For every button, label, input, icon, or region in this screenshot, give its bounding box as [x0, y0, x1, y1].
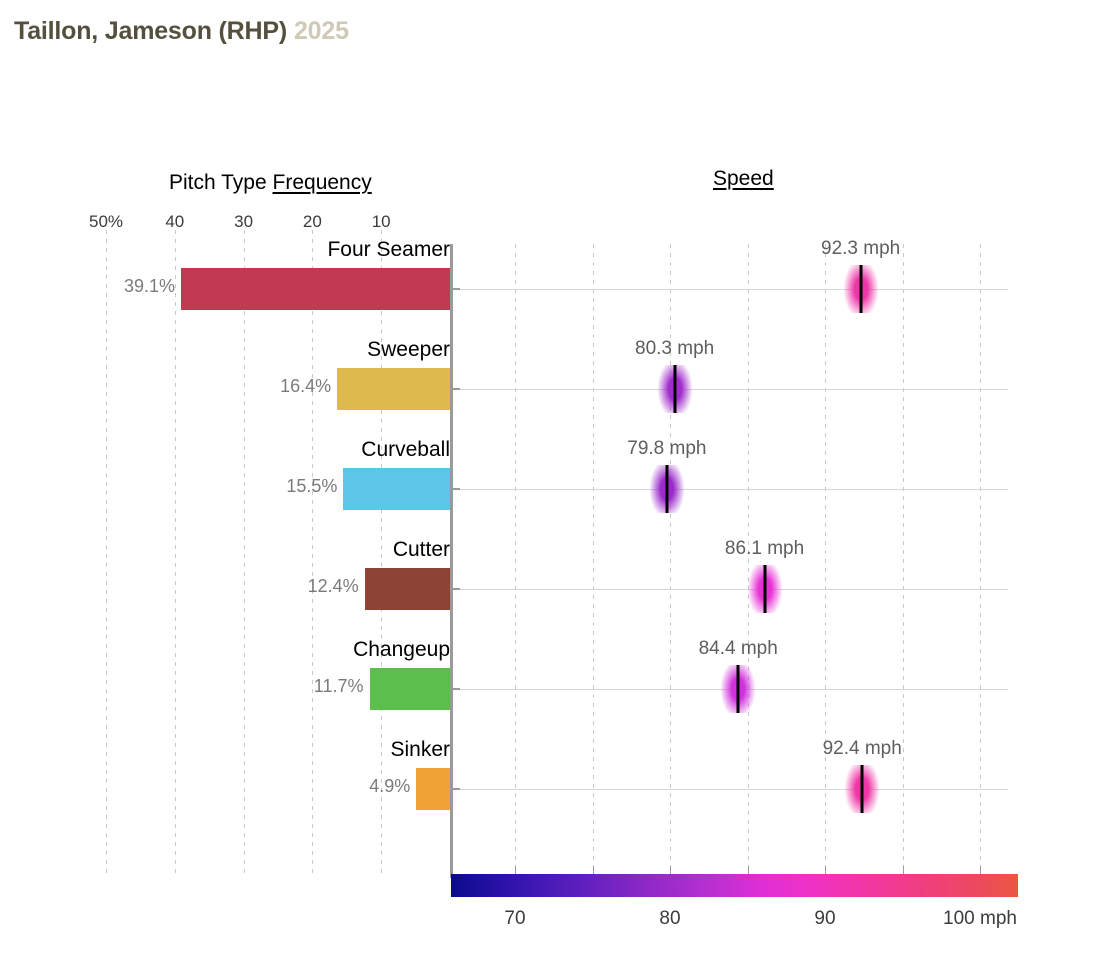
frequency-tick-label: 30 — [234, 212, 253, 232]
frequency-value-label: 4.9% — [369, 776, 416, 797]
row-tick — [450, 388, 460, 390]
colorbar-notch — [670, 866, 671, 874]
frequency-tick-label: 50% — [89, 212, 123, 232]
speed-tick-label: 100 mph — [943, 908, 1017, 930]
frequency-panel-header: Pitch Type Frequency — [169, 171, 372, 195]
frequency-value-label: 39.1% — [124, 276, 181, 297]
colorbar-notch — [593, 866, 594, 874]
speed-value-label: 92.3 mph — [821, 238, 900, 260]
row-baseline — [452, 489, 1008, 490]
row-baseline — [452, 789, 1008, 790]
colorbar-notch — [748, 866, 749, 874]
row-tick — [450, 288, 460, 290]
speed-tick-label: 80 — [659, 908, 680, 930]
colorbar-notch — [515, 866, 516, 874]
row-tick — [450, 488, 460, 490]
frequency-value-label: 12.4% — [308, 576, 365, 597]
frequency-value-label: 15.5% — [286, 476, 343, 497]
frequency-bar[interactable] — [365, 568, 450, 610]
speed-tick-label: 90 — [814, 908, 835, 930]
frequency-value-label: 16.4% — [280, 376, 337, 397]
colorbar-notch — [903, 866, 904, 874]
row-baseline — [452, 589, 1008, 590]
player-name: Taillon, Jameson (RHP) — [14, 17, 287, 45]
speed-median-line — [737, 665, 740, 713]
colorbar-notch — [825, 866, 826, 874]
speed-colorbar — [451, 874, 1018, 897]
frequency-header-underlined: Frequency — [273, 171, 372, 194]
speed-value-label: 92.4 mph — [823, 738, 902, 760]
pitch-type-label: Curveball — [361, 438, 450, 462]
speed-median-line — [673, 365, 676, 413]
speed-median-line — [861, 765, 864, 813]
speed-median-line — [763, 565, 766, 613]
speed-median-line — [665, 465, 668, 513]
speed-median-line — [859, 265, 862, 313]
frequency-bar[interactable] — [370, 668, 450, 710]
pitch-type-label: Four Seamer — [327, 238, 450, 262]
colorbar-notch — [980, 866, 981, 874]
pitch-row: Cutter12.4%86.1 mph — [0, 538, 1108, 638]
frequency-header-prefix: Pitch Type — [169, 171, 273, 194]
speed-panel-header: Speed — [713, 167, 774, 191]
row-tick — [450, 588, 460, 590]
pitch-row: Sweeper16.4%80.3 mph — [0, 338, 1108, 438]
speed-tick-label: 70 — [504, 908, 525, 930]
frequency-bar[interactable] — [181, 268, 450, 310]
row-baseline — [452, 389, 1008, 390]
pitch-type-label: Cutter — [393, 538, 450, 562]
pitch-row: Sinker4.9%92.4 mph — [0, 738, 1108, 838]
page-title: Taillon, Jameson (RHP)2025 — [14, 17, 349, 46]
pitch-row: Curveball15.5%79.8 mph — [0, 438, 1108, 538]
pitch-row: Changeup11.7%84.4 mph — [0, 638, 1108, 738]
frequency-tick-label: 10 — [372, 212, 391, 232]
pitch-type-label: Sinker — [390, 738, 450, 762]
speed-value-label: 80.3 mph — [635, 338, 714, 360]
pitch-type-label: Sweeper — [367, 338, 450, 362]
speed-value-label: 84.4 mph — [699, 638, 778, 660]
speed-value-label: 86.1 mph — [725, 538, 804, 560]
speed-value-label: 79.8 mph — [627, 438, 706, 460]
frequency-tick-label: 20 — [303, 212, 322, 232]
frequency-bar[interactable] — [416, 768, 450, 810]
frequency-bar[interactable] — [337, 368, 450, 410]
pitch-type-label: Changeup — [353, 638, 450, 662]
frequency-tick-label: 40 — [165, 212, 184, 232]
season-year: 2025 — [294, 17, 349, 45]
pitch-row: Four Seamer39.1%92.3 mph — [0, 238, 1108, 338]
pitch-profile-chart: Taillon, Jameson (RHP)2025 Pitch Type Fr… — [0, 0, 1108, 954]
row-tick — [450, 688, 460, 690]
frequency-bar[interactable] — [343, 468, 450, 510]
row-baseline — [452, 289, 1008, 290]
row-tick — [450, 788, 460, 790]
frequency-value-label: 11.7% — [314, 676, 370, 697]
